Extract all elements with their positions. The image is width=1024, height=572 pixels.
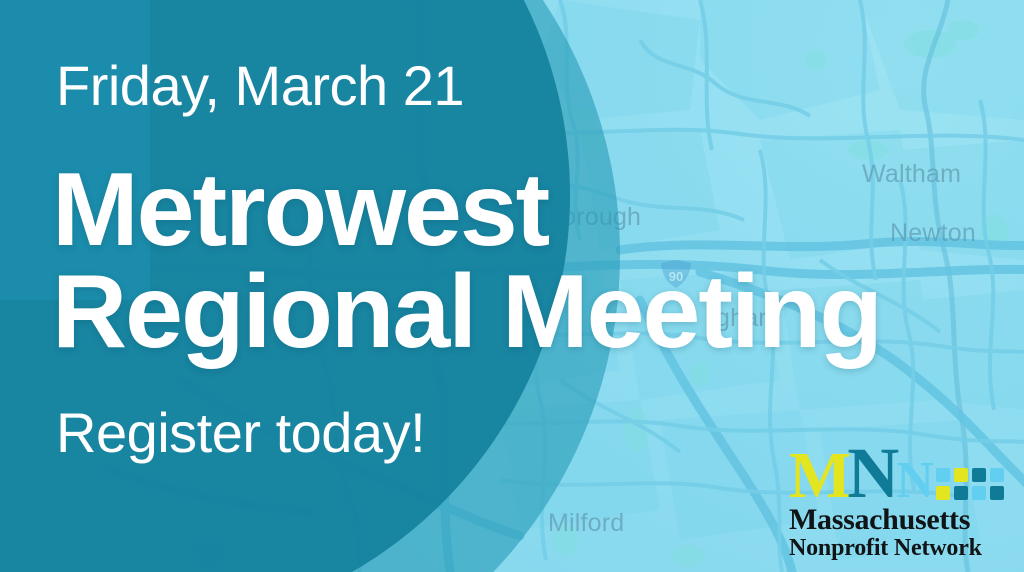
logo-square <box>954 486 968 500</box>
logo-letter-n-dark: N <box>847 444 899 503</box>
logo-square <box>972 486 986 500</box>
promo-banner: Waltham Newton Milford borough gham cest… <box>0 0 1024 572</box>
event-title: Metrowest Regional Meeting <box>52 160 982 364</box>
logo-square-grid-icon <box>936 468 1004 500</box>
logo-letter-m: M <box>789 449 851 503</box>
event-title-line2: Regional Meeting <box>52 262 982 364</box>
logo-square <box>972 468 986 482</box>
event-title-line1: Metrowest <box>52 152 548 268</box>
call-to-action: Register today! <box>56 405 425 461</box>
mnn-wordmark: Massachusetts Nonprofit Network <box>789 505 1004 561</box>
mnn-logo-mark: M N N <box>789 447 1004 503</box>
logo-square <box>936 486 950 500</box>
wordmark-line2: Nonprofit Network <box>789 536 1004 561</box>
logo-letter-n-light: N <box>896 460 934 503</box>
mnn-logo: M N N Massachusetts Nonprofit Network <box>789 447 1004 559</box>
event-date: Friday, March 21 <box>56 58 464 114</box>
logo-square <box>954 468 968 482</box>
logo-square <box>990 486 1004 500</box>
logo-square <box>936 468 950 482</box>
logo-square <box>990 468 1004 482</box>
